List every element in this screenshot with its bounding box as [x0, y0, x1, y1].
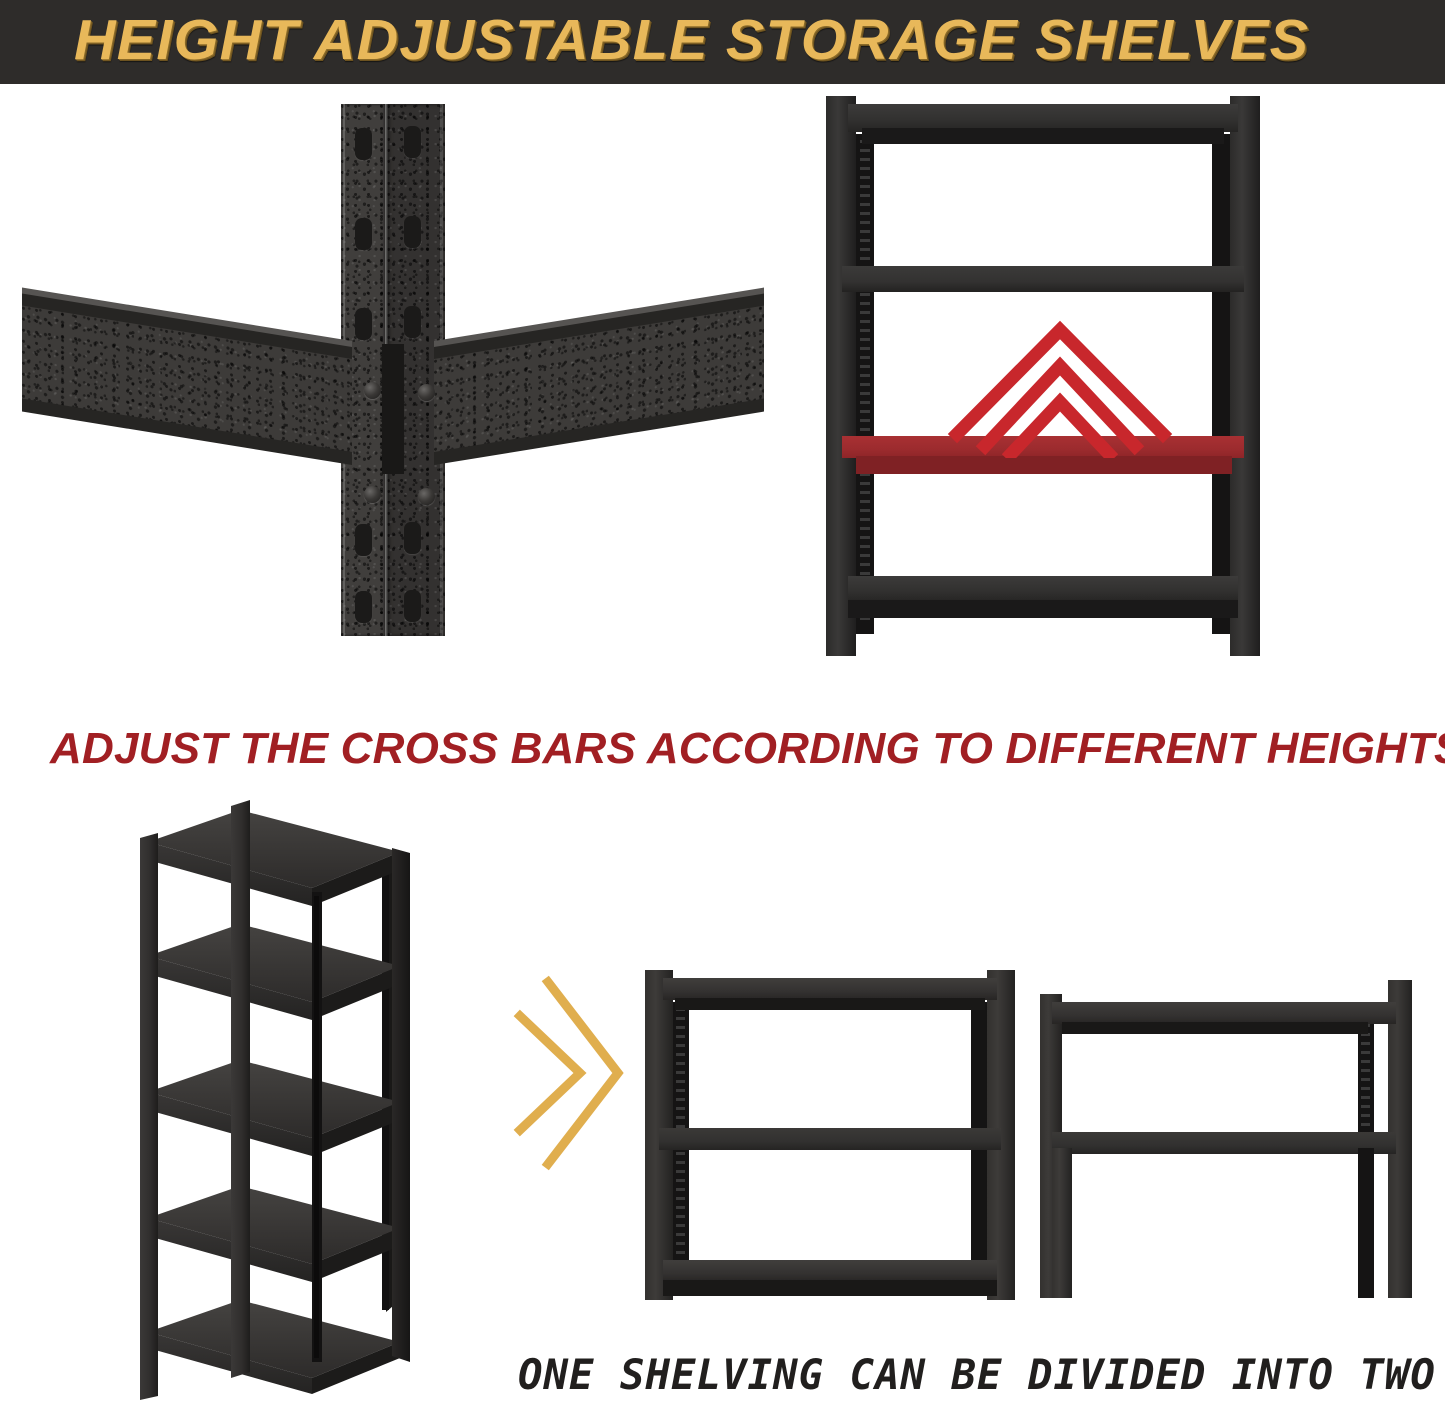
page-title: HEIGHT ADJUSTABLE STORAGE SHELVES	[74, 7, 1438, 73]
post-slot	[355, 308, 372, 340]
split-unit-right-two-tier	[1040, 980, 1412, 1298]
post-slot	[404, 590, 421, 622]
split-a-shelf-top-underside	[675, 998, 985, 1010]
post-perforations	[860, 140, 870, 626]
caption-adjust-cross-bars: ADJUST THE CROSS BARS ACCORDING TO DIFFE…	[50, 722, 1430, 776]
split-unit-left-three-tier	[645, 960, 1015, 1300]
split-a-shelf-bottom-front	[663, 1280, 997, 1296]
post-slot	[404, 306, 421, 338]
post-slot	[404, 126, 421, 158]
tall-five-tier-shelving-unit	[100, 800, 500, 1400]
header-banner: HEIGHT ADJUSTABLE STORAGE SHELVES	[0, 0, 1445, 84]
rivet	[364, 382, 381, 399]
rivet	[418, 488, 435, 505]
beam-connector-plate	[382, 344, 404, 474]
split-a-shelf-bottom	[663, 1260, 997, 1282]
shelf-second-beam	[842, 266, 1244, 292]
shelf-bottom-surface	[848, 576, 1238, 602]
red-up-chevron-icon	[945, 318, 1175, 458]
adjustable-red-shelf-front	[856, 456, 1232, 474]
post-beam-closeup-image	[112, 104, 688, 636]
post-slot	[355, 524, 372, 556]
gold-right-chevron-icon	[508, 968, 628, 1178]
split-b-shelf-top	[1052, 1002, 1396, 1024]
split-b-shelf-top-underside	[1062, 1022, 1368, 1034]
post-slot	[355, 128, 372, 160]
unit-rear-post-right	[1212, 134, 1230, 634]
cross-beam-left	[22, 288, 352, 471]
rivet	[418, 384, 435, 401]
split-b-front-leg-right	[1358, 1148, 1374, 1298]
shelf-top-underside	[862, 128, 1224, 144]
split-a-shelf-top	[663, 978, 997, 1000]
post-slot	[355, 218, 372, 250]
post-slot	[404, 216, 421, 248]
cross-beam-right	[434, 288, 764, 471]
split-b-front-leg-left	[1052, 1148, 1072, 1298]
split-b-middle-beam	[1052, 1132, 1396, 1154]
split-a-middle-beam	[659, 1128, 1001, 1150]
caption-one-shelving-divided: ONE SHELVING CAN BE DIVIDED INTO TWO	[518, 1348, 1410, 1402]
unit-post-right	[1230, 96, 1260, 656]
unit-post-left	[826, 96, 856, 656]
rivet	[364, 486, 381, 503]
post-slot	[404, 522, 421, 554]
post-slot	[355, 591, 372, 623]
shelf-bottom-front	[848, 600, 1238, 618]
